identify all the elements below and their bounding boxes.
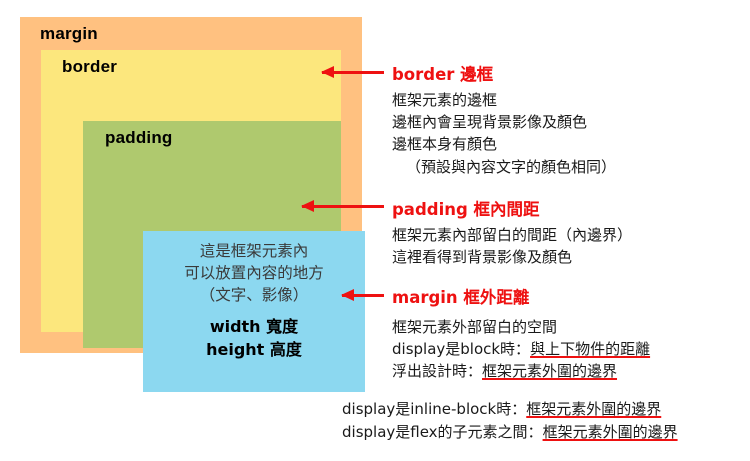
- content-dimensions: width 寬度 height 高度: [206, 315, 302, 361]
- margin-arrow-icon: [342, 294, 384, 297]
- annotation-margin-line-3: 浮出設計時：框架元素外圍的邊界: [392, 360, 650, 382]
- annotation-padding-title: padding 框內間距: [392, 196, 632, 220]
- annotation-border-line-2: 邊框內會呈現背景影像及顏色: [392, 111, 616, 133]
- padding-box: padding 這是框架元素內 可以放置內容的地方 （文字、影像） width …: [83, 121, 341, 348]
- content-line-3: （文字、影像）: [184, 284, 324, 306]
- margin-box-label: margin: [40, 24, 98, 44]
- annotation-margin: margin 框外距離: [392, 284, 529, 308]
- content-line-2: 可以放置內容的地方: [184, 262, 324, 284]
- padding-arrow-icon: [302, 205, 384, 208]
- annotation-margin-line-3-underlined: 框架元素外圍的邊界: [482, 362, 617, 380]
- annotation-margin-lines: 框架元素外部留白的空間 display是block時：與上下物件的距離 浮出設計…: [392, 316, 650, 383]
- border-box-label: border: [62, 57, 117, 77]
- annotation-margin-title: margin 框外距離: [392, 284, 529, 308]
- content-height-label: height 高度: [206, 338, 302, 361]
- extra-note-line-1-prefix: display是inline-block時：: [342, 400, 526, 418]
- extra-note-line-2-prefix: display是flex的子元素之間：: [342, 423, 543, 441]
- extra-note-line-2: display是flex的子元素之間：框架元素外圍的邊界: [342, 421, 678, 444]
- annotation-padding-line-2: 這裡看得到背景影像及顏色: [392, 246, 632, 268]
- annotation-margin-line-1: 框架元素外部留白的空間: [392, 316, 650, 338]
- extra-note-line-2-underlined: 框架元素外圍的邊界: [543, 423, 678, 441]
- extra-notes: display是inline-block時：框架元素外圍的邊界 display是…: [342, 398, 678, 444]
- annotation-margin-line-2: display是block時：與上下物件的距離: [392, 338, 650, 360]
- padding-box-label: padding: [105, 128, 173, 148]
- content-width-label: width 寬度: [206, 315, 302, 338]
- box-model-diagram: margin border padding 這是框架元素內 可以放置內容的地方 …: [20, 17, 362, 353]
- content-description: 這是框架元素內 可以放置內容的地方 （文字、影像）: [184, 240, 324, 306]
- margin-box: margin border padding 這是框架元素內 可以放置內容的地方 …: [20, 17, 362, 353]
- annotation-padding: padding 框內間距 框架元素內部留白的間距（內邊界） 這裡看得到背景影像及…: [392, 196, 632, 268]
- annotation-padding-line-1: 框架元素內部留白的間距（內邊界）: [392, 224, 632, 246]
- annotation-border: border 邊框 框架元素的邊框 邊框內會呈現背景影像及顏色 邊框本身有顏色 …: [392, 61, 616, 178]
- border-arrow-icon: [322, 71, 384, 74]
- border-box: border padding 這是框架元素內 可以放置內容的地方 （文字、影像）…: [41, 50, 341, 332]
- annotation-border-line-1: 框架元素的邊框: [392, 89, 616, 111]
- annotation-border-line-4: （預設與內容文字的顏色相同）: [392, 156, 616, 178]
- content-line-1: 這是框架元素內: [184, 240, 324, 262]
- annotation-margin-line-2-underlined: 與上下物件的距離: [530, 340, 650, 358]
- content-box: 這是框架元素內 可以放置內容的地方 （文字、影像） width 寬度 heigh…: [143, 231, 365, 392]
- annotation-border-lines: 框架元素的邊框 邊框內會呈現背景影像及顏色 邊框本身有顏色 （預設與內容文字的顏…: [392, 89, 616, 178]
- annotation-padding-lines: 框架元素內部留白的間距（內邊界） 這裡看得到背景影像及顏色: [392, 224, 632, 268]
- annotation-margin-body: 框架元素外部留白的空間 display是block時：與上下物件的距離 浮出設計…: [392, 316, 650, 383]
- extra-note-line-1: display是inline-block時：框架元素外圍的邊界: [342, 398, 678, 421]
- annotation-border-line-3: 邊框本身有顏色: [392, 133, 616, 155]
- annotation-margin-line-3-prefix: 浮出設計時：: [392, 362, 482, 380]
- annotation-border-title: border 邊框: [392, 61, 616, 85]
- extra-note-line-1-underlined: 框架元素外圍的邊界: [526, 400, 661, 418]
- annotation-margin-line-2-prefix: display是block時：: [392, 340, 530, 358]
